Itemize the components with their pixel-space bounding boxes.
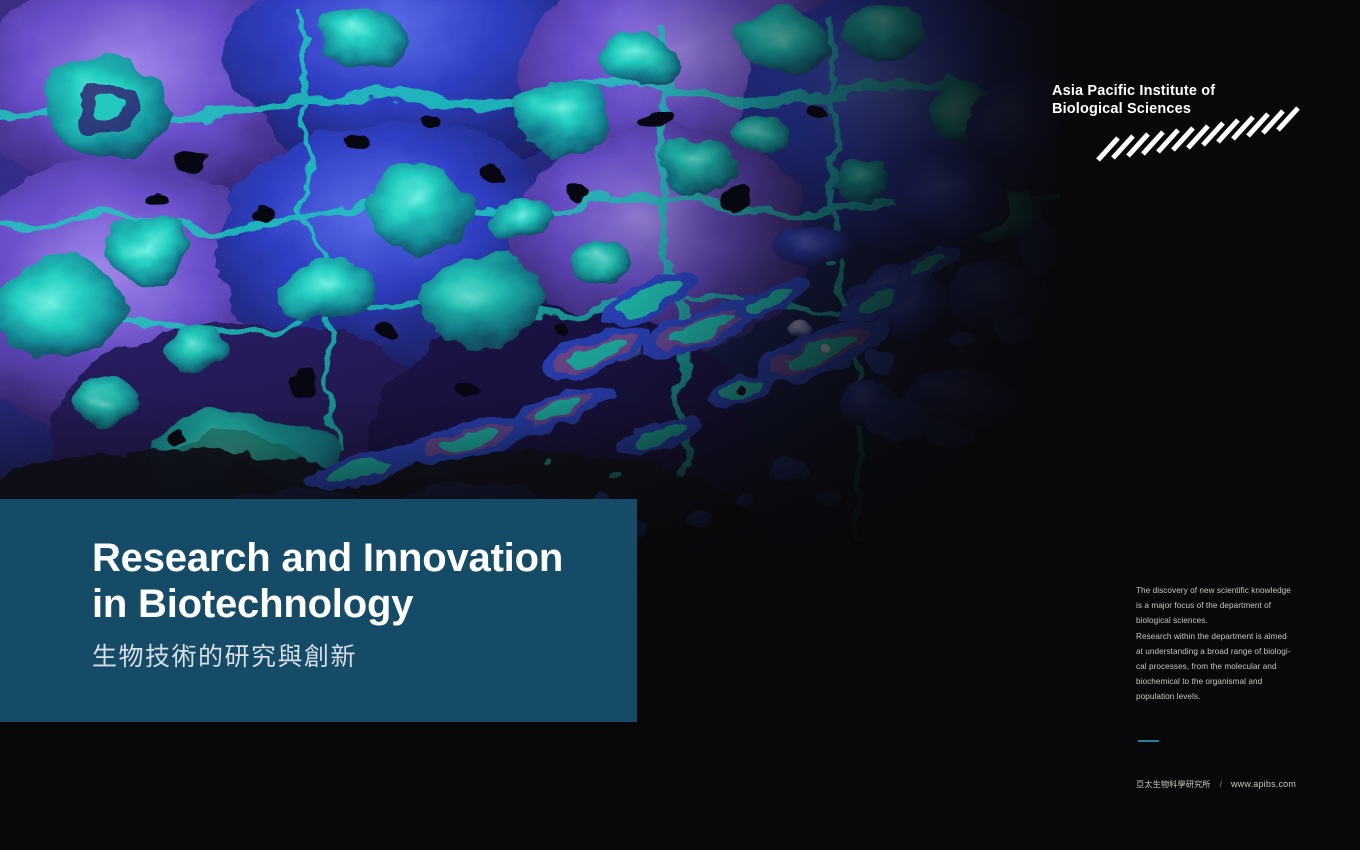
footer-separator: / [1220,780,1222,789]
description-paragraph: The discovery of new scientific knowledg… [1136,583,1306,705]
ascending-slashes-icon [1096,104,1306,166]
title-panel: Research and Innovation in Biotechnology… [0,499,637,722]
footer-url[interactable]: www.apibs.com [1231,779,1296,789]
poster-canvas: Asia Pacific Institute of Biological Sci… [0,0,1360,850]
accent-rule-divider [1138,740,1159,742]
page-subtitle: 生物技術的研究與創新 [92,637,357,673]
footer: 亞太生物科學研究所 / www.apibs.com [1136,778,1296,790]
footer-organization: 亞太生物科學研究所 [1136,778,1211,790]
page-title: Research and Innovation in Biotechnology [92,535,563,628]
